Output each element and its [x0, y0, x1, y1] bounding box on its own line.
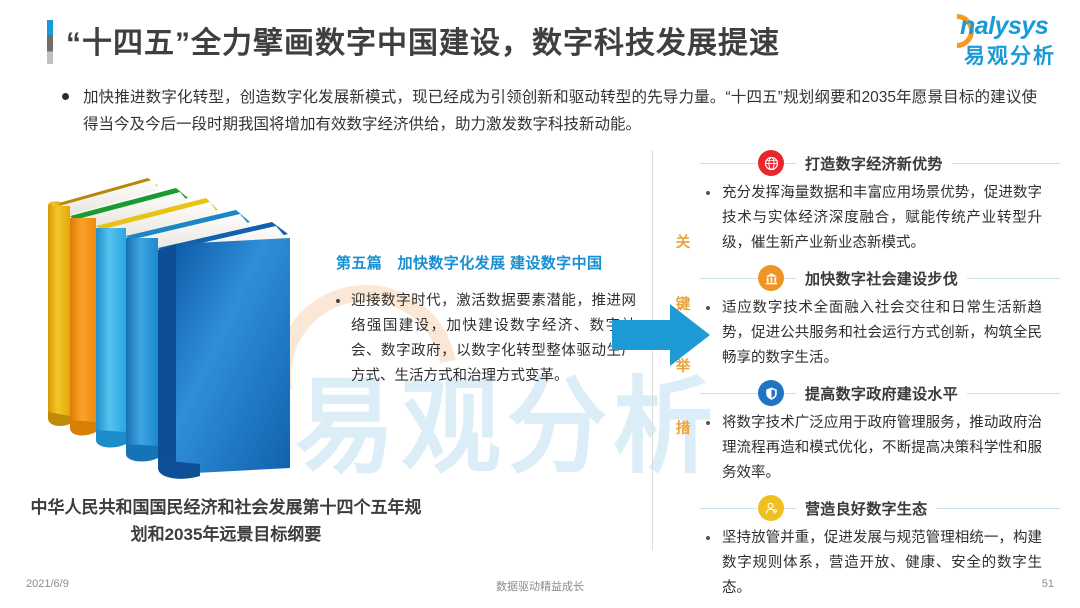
key-measures-char-1: 关 — [672, 212, 694, 274]
page-title: “十四五”全力擘画数字中国建设，数字科技发展提速 — [66, 18, 780, 62]
books-svg — [40, 168, 305, 488]
title-accent-bar — [47, 20, 53, 64]
section-title: 打造数字经济新优势 — [805, 153, 943, 174]
lead-paragraph: 加快推进数字化转型，创造数字化发展新模式，现已经成为引领创新和驱动转型的先导力量… — [62, 84, 1037, 138]
page-footer: 2021/6/9 数据驱动精益成长 51 — [0, 578, 1080, 594]
bank-icon — [758, 265, 784, 291]
section-rule-right — [967, 278, 1060, 279]
analysys-logo: nalysys 易观分析 — [934, 12, 1062, 64]
globe-icon — [758, 150, 784, 176]
person-icon — [758, 495, 784, 521]
section-rule-mid — [784, 393, 796, 394]
logo-wordmark: nalysys — [960, 12, 1048, 41]
key-measures-char-4: 措 — [672, 398, 694, 460]
books-illustration — [40, 168, 305, 488]
bullet-dot-icon — [706, 421, 710, 425]
section-rule-right — [952, 163, 1060, 164]
footer-page-number: 51 — [1042, 578, 1054, 590]
bullet-dot-icon — [706, 191, 710, 195]
section-item: 加快数字社会建设步伐 适应数字技术全面融入社会交往和日常生活新趋势，促进公共服务… — [700, 263, 1060, 371]
section-rule-right — [967, 393, 1060, 394]
section-rule-mid — [784, 278, 796, 279]
middle-block-title: 第五篇 加快数字化发展 建设数字中国 — [336, 252, 636, 273]
section-text: 将数字技术广泛应用于政府管理服务，推动政府治理流程再造和模式优化，不断提高决策科… — [722, 411, 1042, 486]
books-caption: 中华人民共和国国民经济和社会发展第十四个五年规划和2035年远景目标纲要 — [26, 494, 426, 548]
section-header: 提高数字政府建设水平 — [700, 378, 1060, 408]
bullet-dot-icon — [706, 536, 710, 540]
section-rule-left — [700, 163, 758, 164]
section-header: 加快数字社会建设步伐 — [700, 263, 1060, 293]
section-rule-right — [936, 508, 1060, 509]
section-text: 充分发挥海量数据和丰富应用场景优势，促进数字技术与实体经济深度融合，赋能传统产业… — [722, 181, 1042, 256]
bullet-dot-icon — [62, 93, 69, 100]
section-rule-mid — [784, 508, 796, 509]
logo-chinese-name: 易观分析 — [964, 40, 1056, 70]
section-rule-left — [700, 508, 758, 509]
page-header: “十四五”全力擘画数字中国建设，数字科技发展提速 nalysys 易观分析 — [0, 0, 1080, 72]
middle-block: 第五篇 加快数字化发展 建设数字中国 迎接数字时代，激活数据要素潜能，推进网络强… — [336, 252, 636, 389]
section-rule-mid — [784, 163, 796, 164]
flow-arrow-icon — [612, 300, 712, 370]
section-item: 打造数字经济新优势 充分发挥海量数据和丰富应用场景优势，促进数字技术与实体经济深… — [700, 148, 1060, 256]
section-item: 提高数字政府建设水平 将数字技术广泛应用于政府管理服务，推动政府治理流程再造和模… — [700, 378, 1060, 486]
section-title: 提高数字政府建设水平 — [805, 383, 958, 404]
shield-icon — [758, 380, 784, 406]
footer-slogan: 数据驱动精益成长 — [0, 578, 1080, 594]
section-rule-left — [700, 393, 758, 394]
section-rule-left — [700, 278, 758, 279]
lead-paragraph-text: 加快推进数字化转型，创造数字化发展新模式，现已经成为引领创新和驱动转型的先导力量… — [83, 84, 1037, 138]
section-text: 适应数字技术全面融入社会交往和日常生活新趋势，促进公共服务和社会运行方式创新，构… — [722, 296, 1042, 371]
bullet-dot-icon — [336, 299, 340, 303]
middle-block-text: 迎接数字时代，激活数据要素潜能，推进网络强国建设，加快建设数字经济、数字社会、数… — [351, 289, 636, 389]
section-title: 加快数字社会建设步伐 — [805, 268, 958, 289]
section-header: 打造数字经济新优势 — [700, 148, 1060, 178]
section-header: 营造良好数字生态 — [700, 493, 1060, 523]
key-measures-panel: 打造数字经济新优势 充分发挥海量数据和丰富应用场景优势，促进数字技术与实体经济深… — [700, 148, 1060, 608]
section-title: 营造良好数字生态 — [805, 498, 927, 519]
